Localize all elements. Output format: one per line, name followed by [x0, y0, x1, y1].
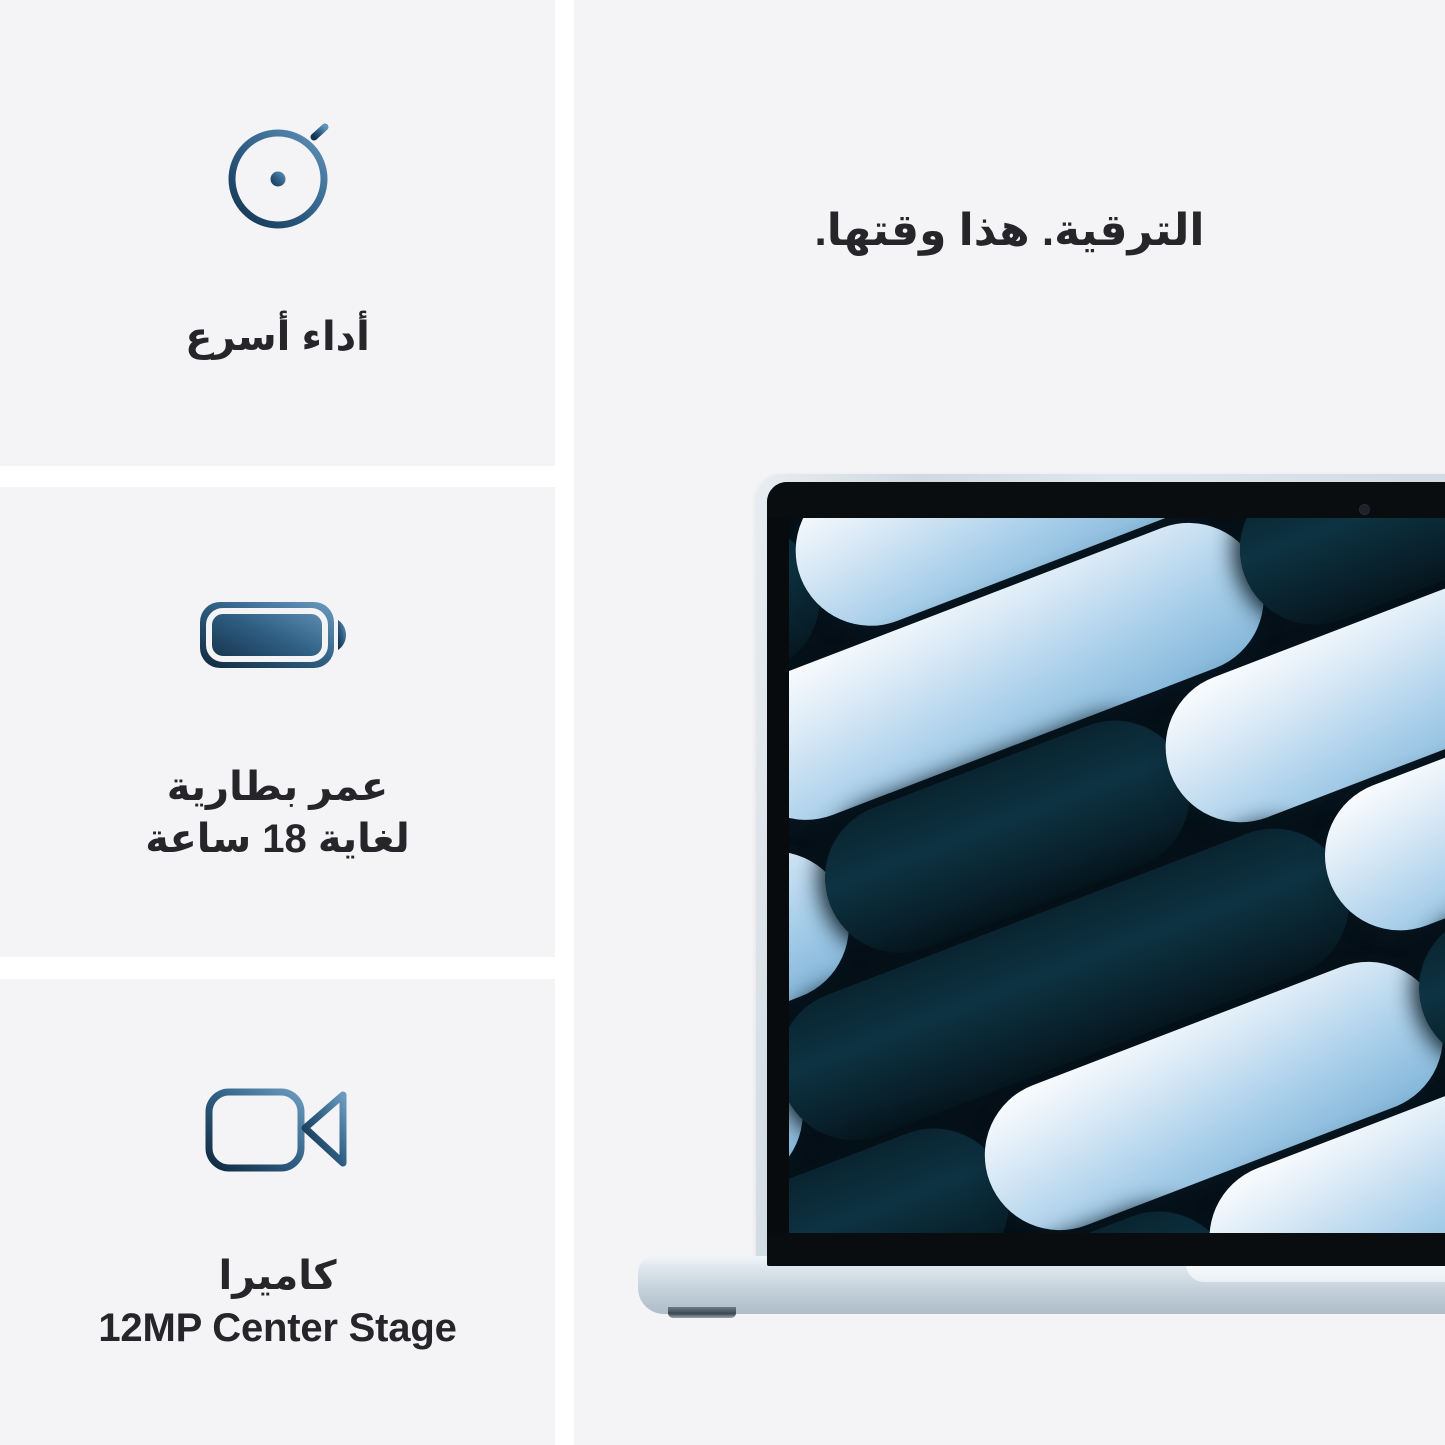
camera-notch-icon [1359, 504, 1370, 515]
feature-card-label: أداء أسرع [185, 311, 370, 363]
panel-headline: الترقية. هذا وقتها. [574, 205, 1445, 256]
feature-card-battery[interactable]: عمر بطارية لغاية 18 ساعة [0, 487, 555, 957]
feature-card-label: عمر بطارية لغاية 18 ساعة [145, 761, 410, 865]
screen-bottom-bezel [767, 1233, 1445, 1266]
laptop-screen [767, 482, 1445, 1266]
stopwatch-icon [203, 104, 353, 239]
feature-label-line: كاميرا [98, 1250, 456, 1302]
promo-panel: أداء أسرع [0, 0, 1445, 1445]
feature-label-line: عمر بطارية [145, 761, 410, 813]
product-panel: الترقية. هذا وقتها. [574, 0, 1445, 1445]
feature-card-column: أداء أسرع [0, 0, 555, 1445]
screen-top-bezel [767, 482, 1445, 518]
macbook-air-image [756, 474, 1445, 1334]
feature-card-camera[interactable]: كاميرا 12MP Center Stage [0, 979, 555, 1445]
feature-card-performance[interactable]: أداء أسرع [0, 0, 555, 466]
feature-label-line: لغاية 18 ساعة [145, 813, 410, 865]
feature-label-line: أداء أسرع [185, 311, 370, 363]
feature-card-label: كاميرا 12MP Center Stage [98, 1250, 456, 1354]
video-camera-icon [193, 1070, 363, 1190]
battery-icon [188, 580, 368, 695]
laptop-foot [668, 1307, 736, 1318]
feature-label-line: 12MP Center Stage [98, 1302, 456, 1354]
wallpaper-ribbons [789, 518, 1445, 1233]
desktop-wallpaper [789, 518, 1445, 1233]
laptop-lid [756, 474, 1445, 1274]
